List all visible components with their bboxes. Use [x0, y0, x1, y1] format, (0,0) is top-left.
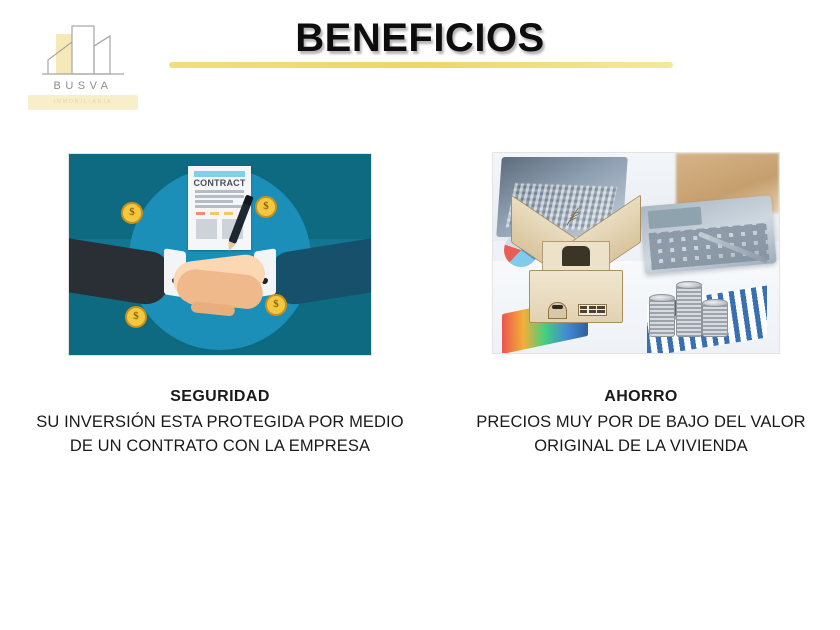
- attic-window: [562, 246, 591, 265]
- coin-icon: $: [125, 306, 147, 328]
- house-model-coins-calculator-photo: [492, 152, 780, 354]
- coin-stack: [676, 284, 702, 337]
- slide: BUSVA INMOBILIARIA BENEFICIOS CONTRACT: [0, 0, 840, 630]
- document-header-band: [194, 171, 245, 177]
- house-door: [548, 302, 566, 319]
- caption-seguridad: SEGURIDAD SU INVERSIÓN ESTA PROTEGIDA PO…: [30, 388, 410, 459]
- caption-heading: SEGURIDAD: [30, 388, 410, 406]
- door-glass: [552, 305, 562, 308]
- wooden-house-model: [516, 211, 636, 325]
- coin-stacks: [647, 265, 733, 337]
- caption-heading: AHORRO: [462, 388, 820, 406]
- logo-tagline: INMOBILIARIA: [28, 95, 138, 110]
- caption-body: PRECIOS MUY POR DE BAJO DEL VALOR ORIGIN…: [462, 410, 820, 459]
- roof-antenna: [564, 204, 583, 229]
- caption-ahorro: AHORRO PRECIOS MUY POR DE BAJO DEL VALOR…: [462, 388, 820, 459]
- handshake-contract-illustration: CONTRACT: [68, 153, 372, 356]
- page-title: BENEFICIOS: [0, 16, 840, 61]
- coin-stack: [649, 297, 675, 337]
- coin-stack: [702, 302, 728, 337]
- house-body: [529, 270, 623, 322]
- title-underline-rule: [169, 62, 673, 68]
- caption-body: SU INVERSIÓN ESTA PROTEGIDA POR MEDIO DE…: [30, 410, 410, 459]
- document-title: CONTRACT: [188, 178, 251, 188]
- benefit-card-seguridad: CONTRACT: [68, 153, 372, 356]
- calculator-keys: [648, 223, 769, 270]
- calculator-screen: [647, 207, 701, 229]
- house-window: [578, 304, 607, 316]
- coin-icon: $: [265, 294, 287, 316]
- coin-icon: $: [121, 202, 143, 224]
- logo-tagline-band: INMOBILIARIA: [28, 95, 138, 110]
- benefit-card-ahorro: [492, 152, 780, 354]
- logo-wordmark: BUSVA: [28, 80, 138, 92]
- coin-icon: $: [255, 196, 277, 218]
